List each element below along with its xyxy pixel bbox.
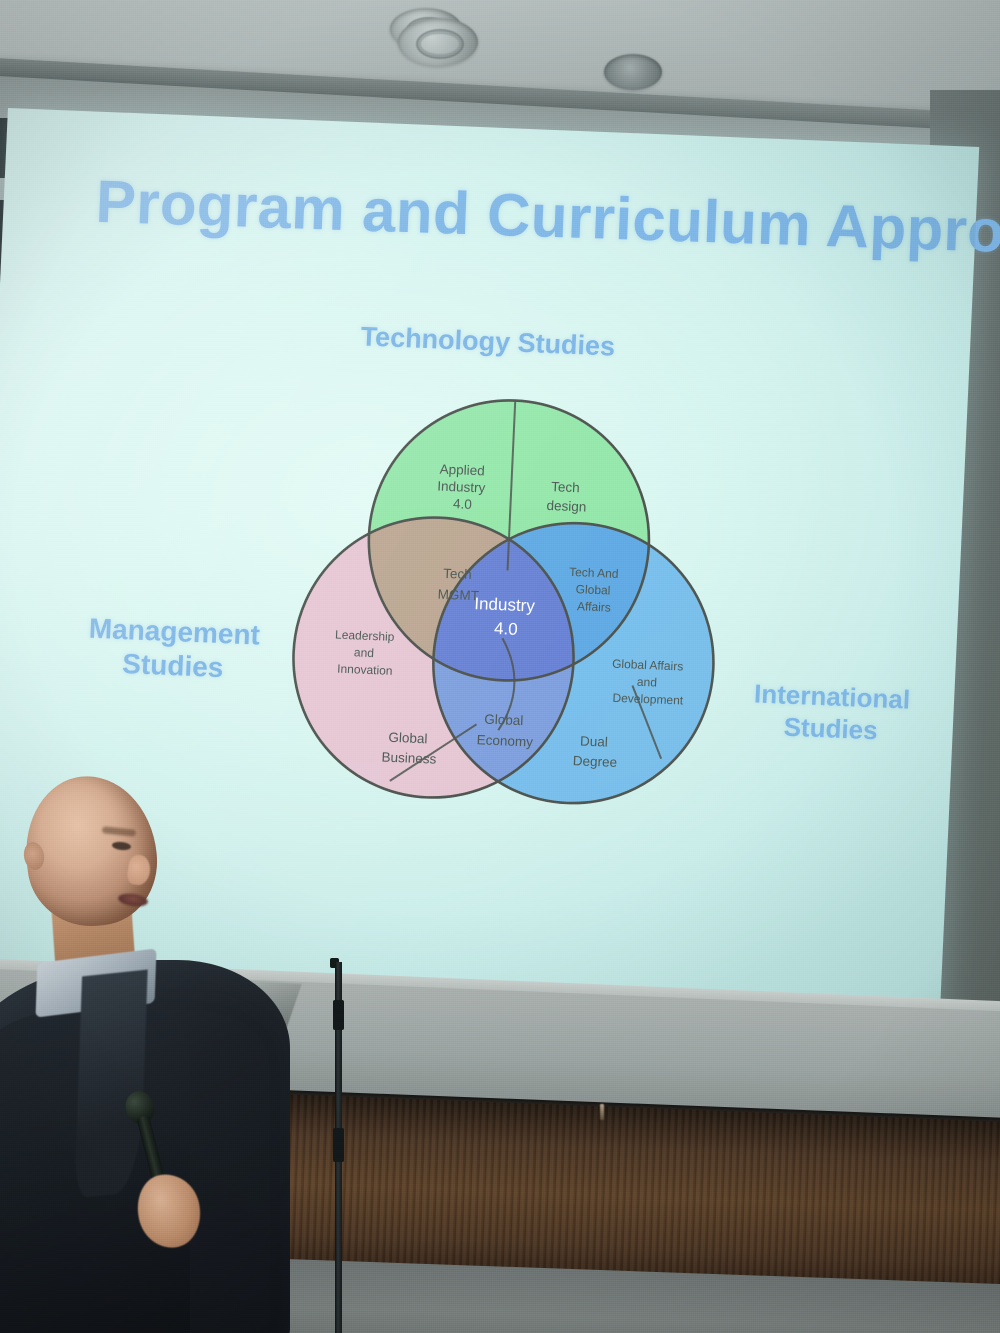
presenter xyxy=(0,760,410,1333)
ceiling-light-icon xyxy=(604,54,662,90)
lecture-photo: Program and Curriculum Approach Technolo… xyxy=(0,0,1000,1333)
ceiling-speaker-icon xyxy=(398,18,478,66)
set-label-international-studies: International Studies xyxy=(695,676,968,750)
set-label-technology-studies: Technology Studies xyxy=(297,318,678,366)
slide-title: Program and Curriculum Approach xyxy=(95,167,997,266)
wall-highlight xyxy=(600,1104,604,1120)
set-label-management-studies: Management Studies xyxy=(37,610,310,689)
